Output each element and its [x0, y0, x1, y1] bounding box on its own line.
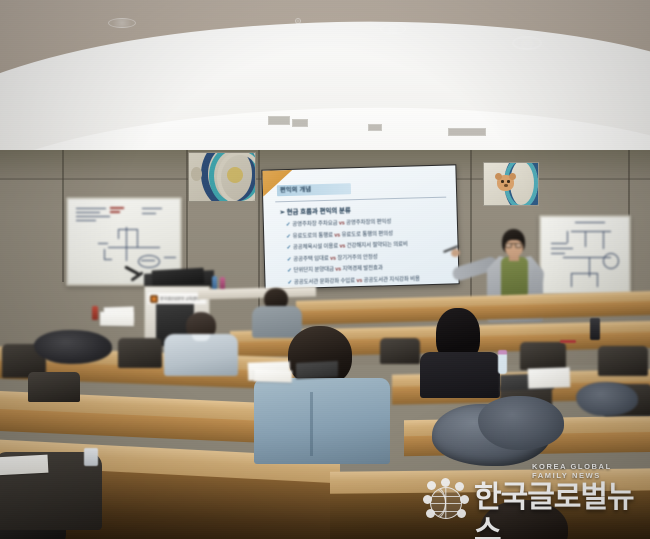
person-figure-icon — [457, 509, 466, 518]
ceiling-speaker-icon — [512, 36, 542, 50]
attendee-shirt-fold — [310, 392, 313, 456]
bullet-left: 유료도로의 통행료 — [293, 232, 333, 239]
whiteboard-ink — [76, 216, 110, 217]
bullet-right: 공공도서관 지식강좌 비용 — [364, 276, 420, 284]
check-icon: ✓ — [286, 245, 291, 251]
bullet-left: 공공주택 임대료 — [293, 256, 329, 263]
ceiling-vent — [368, 124, 382, 131]
bullet-right: 건강해지서 절약되는 의료비 — [347, 242, 408, 250]
bullet-vs: vs — [330, 255, 336, 261]
person-figure-icon — [427, 481, 436, 490]
slide-divider — [275, 197, 446, 203]
slide-bullet: ✓유료도로의 통행료 vs 유료도로 통행의 편의성 — [286, 227, 449, 240]
slide-heading-marker: ➢ — [279, 209, 285, 216]
person-figure-icon — [423, 495, 432, 504]
person-figure-icon — [460, 495, 469, 504]
bullet-left: 공영주차장 주차요금 — [292, 221, 337, 228]
whiteboard-ink — [571, 273, 597, 274]
whiteboard-circle — [138, 255, 160, 268]
chair — [598, 346, 648, 376]
whiteboard-ink — [575, 222, 605, 223]
bullet-left: 단위단지 분양대금 — [294, 267, 334, 274]
bullet-left: 공공체육시설 이용료 — [293, 244, 338, 251]
whiteboard-ink — [141, 260, 155, 261]
check-icon: ✓ — [287, 268, 292, 274]
slide-bullet: ✓공공도서관 문화강좌 수입료 vs 공공도서관 지식강좌 비용 — [287, 273, 450, 286]
watermark-english: KOREA GLOBAL FAMILY NEWS — [532, 462, 646, 480]
person-figure-icon — [455, 482, 464, 491]
slide-bullet: ✓공영주차장 주차요금 vs 공영주차장의 편익성 — [286, 216, 449, 229]
whiteboard-ink — [551, 248, 573, 249]
whiteboard-ink — [76, 220, 96, 221]
wall-seam — [62, 150, 64, 282]
whiteboard-ink — [597, 273, 598, 287]
ceiling-vent — [448, 128, 486, 136]
whiteboard-ink — [603, 231, 604, 249]
bottle-red — [92, 306, 98, 320]
wall-emblem-left — [188, 152, 256, 202]
whiteboard-ink — [137, 229, 138, 247]
check-icon: ✓ — [286, 222, 291, 228]
whiteboard-ink — [104, 249, 105, 259]
bullet-vs: vs — [339, 220, 345, 226]
ceiling-vent — [268, 116, 290, 125]
attendee-torso — [420, 352, 500, 398]
chair — [380, 338, 420, 364]
whiteboard-ink — [104, 259, 112, 260]
attendee-torso — [254, 378, 390, 464]
draped-jacket-right-2 — [478, 396, 564, 450]
watermark-text-block: KOREA GLOBAL FAMILY NEWS 한국글로벌뉴스 — [474, 458, 646, 539]
bottle-pink — [220, 277, 225, 289]
slide-heading-text: 현금 흐름과 편익의 분류 — [287, 207, 351, 216]
attendee-collar — [192, 334, 210, 341]
podium-logo-text: 한국생산성본부 교육센터 — [160, 295, 199, 303]
slide-title: 편익의 개념 — [280, 184, 350, 196]
watermark-korean: 한국글로벌뉴스 — [474, 481, 646, 539]
bullet-right: 공영주차장의 편익성 — [346, 219, 391, 226]
globe-parallel — [431, 503, 461, 504]
whiteboard-ink — [571, 231, 611, 232]
chair — [520, 342, 566, 370]
slide-content: 편익의 개념 ➢ 현금 흐름과 편익의 분류 ✓공영주차장 주차요금 vs 공영… — [262, 165, 458, 288]
documents — [528, 367, 571, 388]
person-figure-icon — [426, 509, 435, 518]
mug — [84, 448, 98, 466]
bullet-vs: vs — [339, 244, 345, 250]
whiteboard-ink — [118, 229, 138, 230]
laptop — [296, 361, 338, 379]
wall-emblem-right — [483, 162, 539, 206]
chair — [118, 338, 162, 368]
whiteboard-ink — [98, 243, 108, 244]
lecture-hall-photo: 편익의 개념 ➢ 현금 흐름과 편익의 분류 ✓공영주차장 주차요금 vs 공영… — [0, 0, 650, 539]
attendee-torso — [252, 306, 302, 338]
ceiling-downlight — [380, 24, 406, 34]
podium-logo-icon — [150, 295, 158, 303]
bottle-blue — [212, 276, 217, 289]
pen — [560, 340, 576, 343]
papers-on-podium — [100, 312, 134, 327]
bullet-vs: vs — [356, 278, 362, 284]
globe-with-people-logo-icon — [424, 481, 468, 525]
projection-screen: 편익의 개념 ➢ 현금 흐름과 편익의 분류 ✓공영주차장 주차요금 vs 공영… — [261, 164, 459, 289]
whiteboard-ink — [142, 213, 156, 214]
glasses-lens-left — [505, 243, 512, 248]
bullet-vs: vs — [334, 232, 340, 238]
glasses-lens-right — [515, 243, 522, 248]
water-bottle — [498, 350, 507, 374]
bullet-left: 공공도서관 문화강좌 수입료 — [294, 278, 355, 286]
whiteboard-ink-red — [110, 211, 120, 213]
slide-heading: ➢ 현금 흐름과 편익의 분류 — [279, 203, 446, 217]
ceiling-vent — [292, 119, 308, 127]
whiteboard-ink — [76, 208, 106, 209]
whiteboard-ink — [585, 231, 586, 247]
bullet-right: 유료도로 통행의 편의성 — [341, 231, 393, 238]
draped-bag-left — [34, 330, 112, 364]
whiteboard-ink-red — [110, 207, 124, 209]
slide-bullet: ✓공공체육시설 이용료 vs 건강해지서 절약되는 의료비 — [286, 239, 449, 252]
podium-monitor — [152, 268, 205, 287]
bullet-vs: vs — [335, 267, 341, 273]
whiteboard-axis-vertical — [126, 227, 127, 261]
ceiling-downlight — [295, 18, 301, 24]
documents-front-left — [0, 455, 48, 476]
whiteboard-ink — [164, 257, 176, 258]
mascot-icon — [494, 171, 516, 195]
check-icon: ✓ — [287, 280, 292, 286]
whiteboard-right — [539, 215, 631, 295]
whiteboard-ink — [118, 229, 119, 239]
whiteboard-axis-horizontal — [108, 247, 160, 248]
bullet-right: 지역경제 발전효과 — [342, 266, 382, 273]
check-icon: ✓ — [287, 257, 292, 263]
bullet-right: 장기거주의 안정성 — [337, 254, 377, 261]
slide-bullet-list: ✓공영주차장 주차요금 vs 공영주차장의 편익성 ✓유료도로의 통행료 vs … — [286, 216, 451, 289]
presenter-shirt — [501, 257, 528, 299]
wall-seam — [470, 150, 472, 300]
person-figure-icon — [441, 478, 450, 487]
whiteboard-circle — [603, 253, 619, 269]
slide-bullet: ✓단위단지 분양대금 vs 지역경제 발전효과 — [287, 262, 450, 275]
slide-bullet: ✓공공주택 임대료 vs 장기거주의 안정성 — [287, 250, 450, 263]
whiteboard-ink — [571, 273, 572, 287]
whiteboard-ink — [551, 243, 567, 244]
whiteboard-ink — [142, 208, 162, 209]
whiteboard-ink — [76, 212, 100, 213]
whiteboard-ink — [567, 231, 568, 243]
globe-parallel — [431, 496, 461, 497]
whiteboard-ink — [551, 253, 565, 254]
check-icon: ✓ — [286, 234, 291, 240]
watermark: KOREA GLOBAL FAMILY NEWS 한국글로벌뉴스 — [424, 474, 646, 532]
chair — [28, 372, 80, 402]
ceiling-downlight — [108, 18, 136, 28]
thermos-bottle — [590, 318, 600, 340]
documents — [254, 369, 292, 382]
ceiling — [0, 0, 650, 175]
draped-jacket-back — [576, 382, 638, 416]
